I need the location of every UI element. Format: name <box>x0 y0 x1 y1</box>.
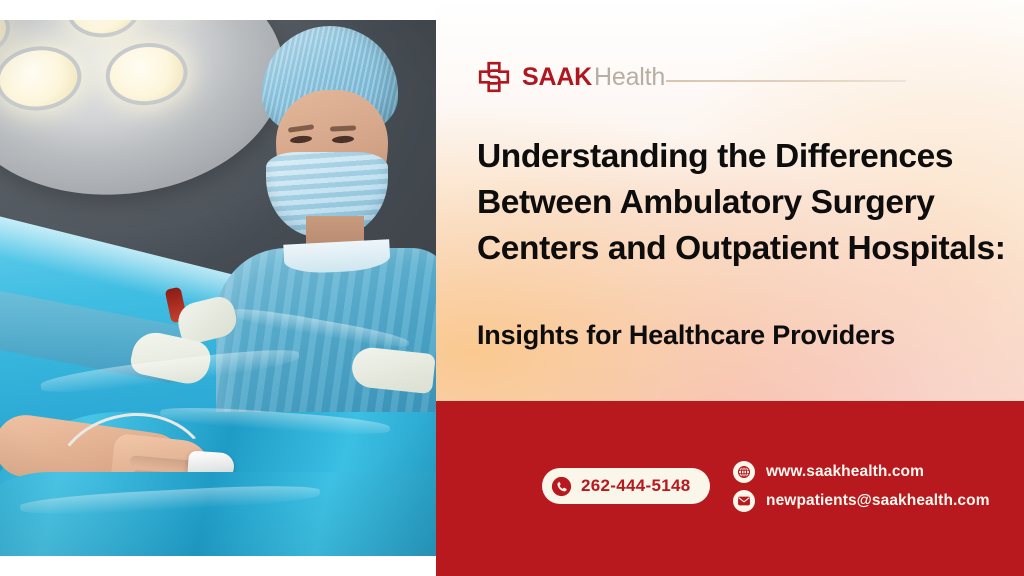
contact-list: www.saakhealth.com newpatients@saakhealt… <box>733 461 990 512</box>
brand-wordmark: SAAKHealth <box>522 65 665 90</box>
email-text: newpatients@saakhealth.com <box>766 492 990 510</box>
medical-cross-s-logo-icon <box>477 60 511 94</box>
page-subtitle: Insights for Healthcare Providers <box>477 318 997 352</box>
website-text: www.saakhealth.com <box>766 463 924 481</box>
operating-room-photo <box>0 20 436 556</box>
globe-icon <box>733 461 755 483</box>
page-title: Understanding the Differences Between Am… <box>477 134 1007 272</box>
logo-divider-rule <box>666 80 906 82</box>
phone-number: 262-444-5148 <box>581 476 690 496</box>
brand-name-primary: SAAK <box>522 63 592 91</box>
email-link[interactable]: newpatients@saakhealth.com <box>733 490 990 512</box>
phone-icon <box>551 476 572 497</box>
photo-scene <box>0 20 436 556</box>
phone-button[interactable]: 262-444-5148 <box>542 468 710 504</box>
envelope-icon <box>733 490 755 512</box>
marketing-banner: SAAKHealth Understanding the Differences… <box>0 0 1024 576</box>
brand-logo[interactable]: SAAKHealth <box>477 60 665 94</box>
photo-vignette <box>0 20 436 556</box>
website-link[interactable]: www.saakhealth.com <box>733 461 990 483</box>
brand-name-secondary: Health <box>594 63 665 91</box>
